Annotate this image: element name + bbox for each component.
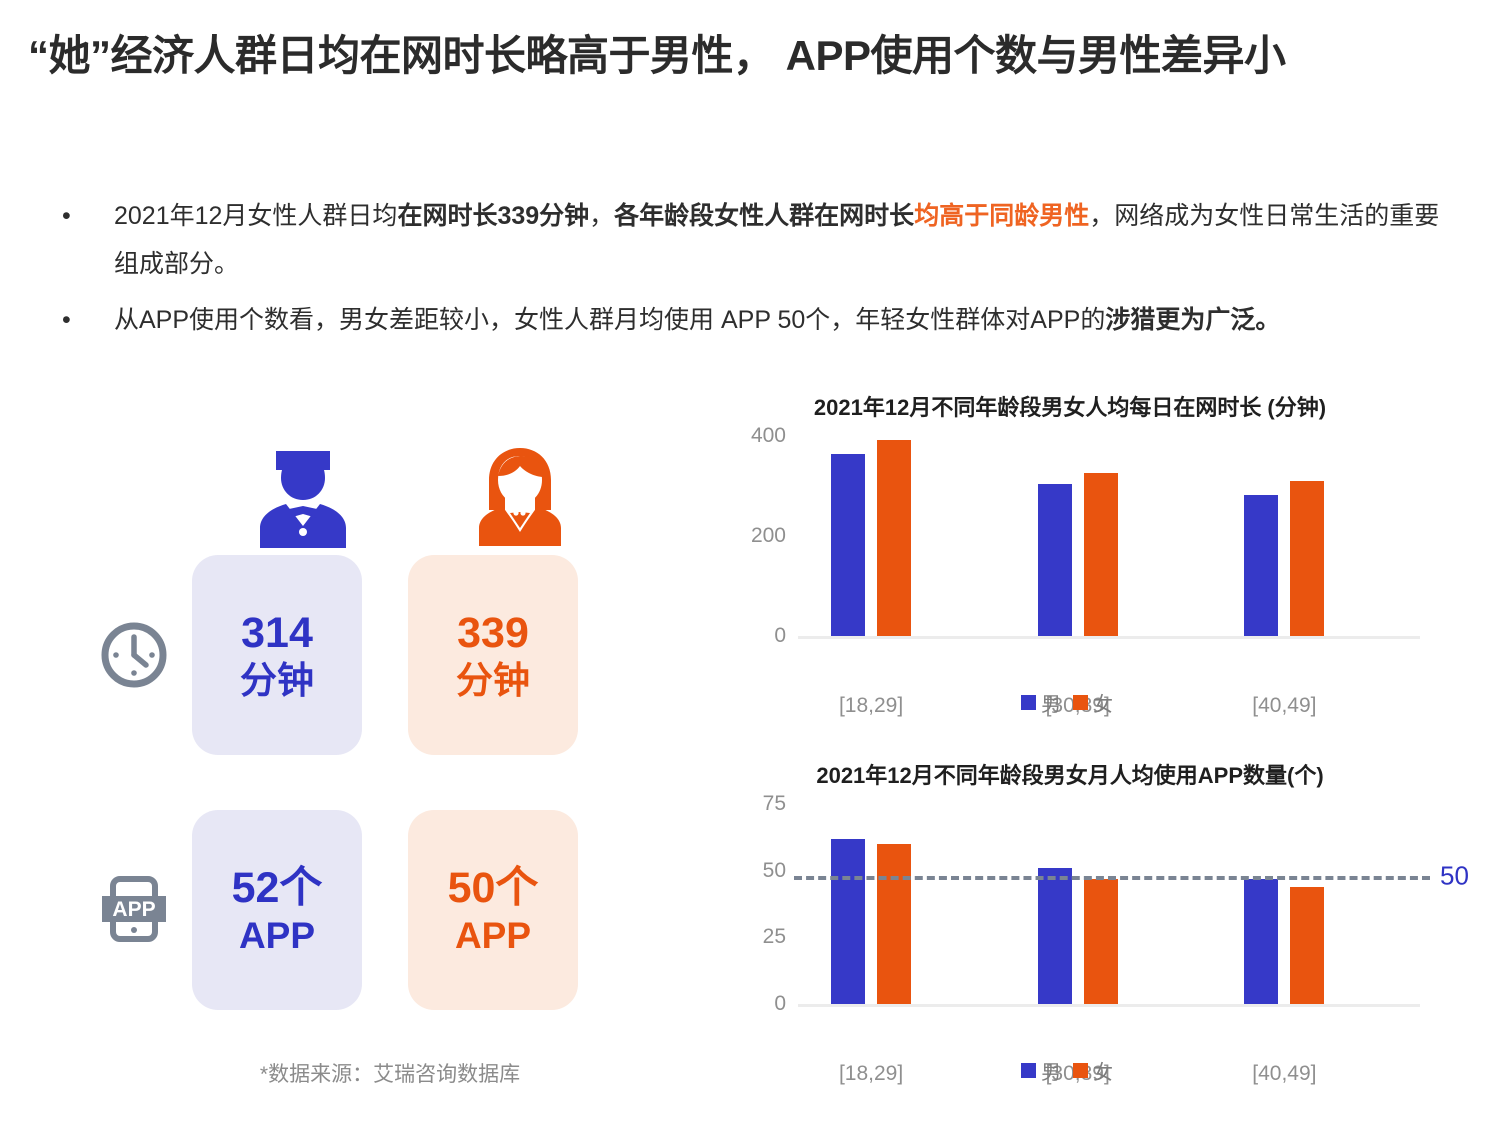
legend-item-male: 男 [1021,688,1061,717]
bar-female [1290,887,1324,1004]
y-axis-tick-label: 0 [774,992,786,1016]
legend-label: 女 [1093,688,1113,717]
chart-online-time: 2021年12月不同年龄段男女人均每日在网时长 (分钟) 0200400[18,… [720,390,1440,730]
bullet-1-highlight: 均高于同龄男性 [914,202,1089,230]
y-axis-tick-label: 400 [751,424,786,448]
legend-item-male: 男 [1021,1056,1061,1085]
stat-value: 52个 [232,863,323,914]
bar-male [831,839,865,1004]
bullet-2-part-1: 从APP使用个数看，男女差距较小，女性人群月均使用 APP 50个，年轻女性群体… [114,306,1105,334]
bar-group [1038,436,1118,636]
stat-unit: 分钟 [456,659,530,703]
bullet-1-part-3: ， [589,202,614,230]
stat-card-female-time: 339 分钟 [408,555,578,755]
y-axis-tick-label: 75 [763,792,786,816]
legend-label: 男 [1041,1056,1061,1085]
app-tablet-icon: APP [97,872,171,946]
y-axis-tick-label: 200 [751,524,786,548]
bullet-2-part-2: 涉猎更为广泛。 [1105,306,1280,334]
legend-swatch-male-icon [1021,695,1036,710]
bullet-item-1: • 2021年12月女性人群日均在网时长339分钟，各年龄段女性人群在网时长均高… [52,192,1452,288]
legend-swatch-female-icon [1073,1063,1088,1078]
bar-female [1084,473,1118,636]
clock-icon [97,618,171,692]
legend-label: 男 [1041,688,1061,717]
bar-male [1038,484,1072,637]
stat-card-male-time: 314 分钟 [192,555,362,755]
chart-legend: 男 女 [720,688,1420,717]
stat-value: 339 [457,608,529,659]
bullet-item-2: • 从APP使用个数看，男女差距较小，女性人群月均使用 APP 50个，年轻女性… [52,296,1452,344]
x-axis-line [798,636,1420,639]
female-person-icon [465,446,575,546]
reference-line [794,876,1430,880]
bullet-list: • 2021年12月女性人群日均在网时长339分钟，各年龄段女性人群在网时长均高… [52,192,1452,344]
bar-male [1244,879,1278,1004]
chart-legend: 男 女 [720,1056,1420,1085]
stat-unit: APP [455,914,531,958]
legend-item-female: 女 [1073,688,1113,717]
svg-text:APP: APP [112,898,155,921]
bullet-1-part-2: 在网时长339分钟 [397,202,589,230]
legend-swatch-male-icon [1021,1063,1036,1078]
slide-root: “她”经济人群日均在网时长略高于男性， APP使用个数与男性差异小 • 2021… [0,0,1500,1125]
page-title: “她”经济人群日均在网时长略高于男性， APP使用个数与男性差异小 [28,22,1478,83]
stat-card-male-apps: 52个 APP [192,810,362,1010]
chart-app-count: 2021年12月不同年龄段男女月人均使用APP数量(个) 0255075[18,… [720,758,1440,1098]
bar-female [1290,481,1324,636]
plot-area: 0200400[18,29][30,39][40,49] [798,436,1418,636]
stat-value: 314 [241,608,313,659]
stat-unit: APP [239,914,315,958]
x-axis-line [798,1004,1420,1007]
bullet-marker-icon: • [62,192,71,240]
source-note: *数据来源：艾瑞咨询数据库 [180,1058,600,1088]
bar-female [1084,879,1118,1004]
chart-title: 2021年12月不同年龄段男女月人均使用APP数量(个) [720,758,1420,790]
bullet-marker-icon: • [62,296,71,344]
reference-line-label: 50 [1440,861,1469,892]
bar-female [877,440,911,636]
infographic-panel: APP 314 分钟 339 分钟 52个 APP 50个 APP *数据来源：… [80,440,680,1100]
legend-label: 女 [1093,1056,1113,1085]
chart-title: 2021年12月不同年龄段男女人均每日在网时长 (分钟) [720,390,1420,422]
plot-area: 0255075[18,29][30,39][40,49]50 [798,804,1418,1004]
legend-item-female: 女 [1073,1056,1113,1085]
bullet-1-part-1: 2021年12月女性人群日均 [114,202,397,230]
stat-card-female-apps: 50个 APP [408,810,578,1010]
bullet-2-text: 从APP使用个数看，男女差距较小，女性人群月均使用 APP 50个，年轻女性群体… [114,306,1280,334]
y-axis-tick-label: 50 [763,859,786,883]
bar-group [1038,804,1118,1004]
bar-male [1038,868,1072,1004]
stat-unit: 分钟 [240,659,314,703]
legend-swatch-female-icon [1073,695,1088,710]
bar-group [831,436,911,636]
bar-group [1244,804,1324,1004]
stat-value: 50个 [448,863,539,914]
bullet-1-text: 2021年12月女性人群日均在网时长339分钟，各年龄段女性人群在网时长均高于同… [114,202,1439,278]
bar-female [877,844,911,1004]
y-axis-tick-label: 0 [774,624,786,648]
bar-male [831,454,865,637]
male-person-icon [248,448,358,548]
bullet-1-part-4: 各年龄段女性人群在网时长 [614,202,914,230]
bar-male [1244,495,1278,636]
bar-group [1244,436,1324,636]
y-axis-tick-label: 25 [763,925,786,949]
bar-group [831,804,911,1004]
